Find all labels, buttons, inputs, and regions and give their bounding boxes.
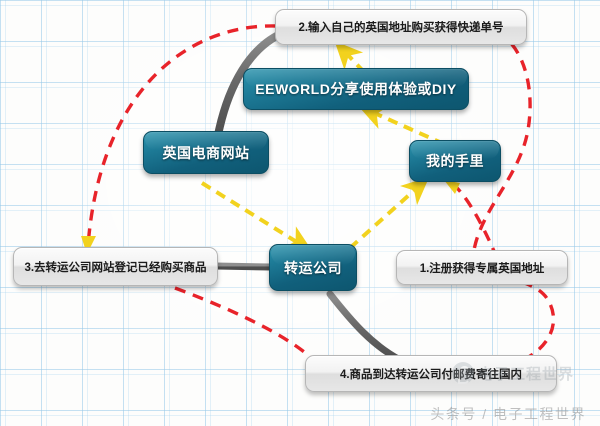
arrowhead-myhand-red bbox=[444, 180, 460, 194]
yellow-edge-forwarder-to-myhand bbox=[350, 187, 418, 248]
node-my-hand[interactable]: 我的手里 bbox=[409, 140, 501, 182]
yellow-edge-ukshop-to-forwarder bbox=[202, 183, 300, 244]
node-step4[interactable]: 4.商品到达转运公司付邮费寄往国内 bbox=[305, 355, 557, 392]
diagram-canvas: 2.输入自己的英国地址购买获得快递单号 EEWORLD分享使用体验或DIY 英国… bbox=[0, 0, 600, 426]
node-eeworld-label: EEWORLD分享使用体验或DIY bbox=[255, 79, 456, 99]
node-step3-label: 3.去转运公司网站登记已经购买商品 bbox=[24, 259, 206, 275]
node-my-hand-label: 我的手里 bbox=[426, 151, 484, 171]
red-edge-step3-to-step4 bbox=[175, 288, 320, 366]
footer-credit: 头条号 / 电子工程世界 bbox=[0, 402, 600, 426]
node-forwarder-label: 转运公司 bbox=[284, 258, 342, 278]
node-step1-label: 1.注册获得专属英国地址 bbox=[420, 260, 545, 276]
node-step3[interactable]: 3.去转运公司网站登记已经购买商品 bbox=[13, 247, 218, 286]
node-step4-label: 4.商品到达转运公司付邮费寄往国内 bbox=[340, 366, 522, 382]
node-step2-label: 2.输入自己的英国地址购买获得快递单号 bbox=[298, 19, 503, 35]
node-uk-shop[interactable]: 英国电商网站 bbox=[143, 131, 269, 174]
node-forwarder[interactable]: 转运公司 bbox=[269, 244, 357, 291]
node-step2[interactable]: 2.输入自己的英国地址购买获得快递单号 bbox=[275, 9, 527, 45]
red-edge-step4-to-step1-to-top bbox=[468, 32, 554, 372]
node-step1[interactable]: 1.注册获得专属英国地址 bbox=[396, 250, 568, 285]
node-uk-shop-label: 英国电商网站 bbox=[163, 143, 250, 163]
node-eeworld[interactable]: EEWORLD分享使用体验或DIY bbox=[243, 68, 469, 110]
